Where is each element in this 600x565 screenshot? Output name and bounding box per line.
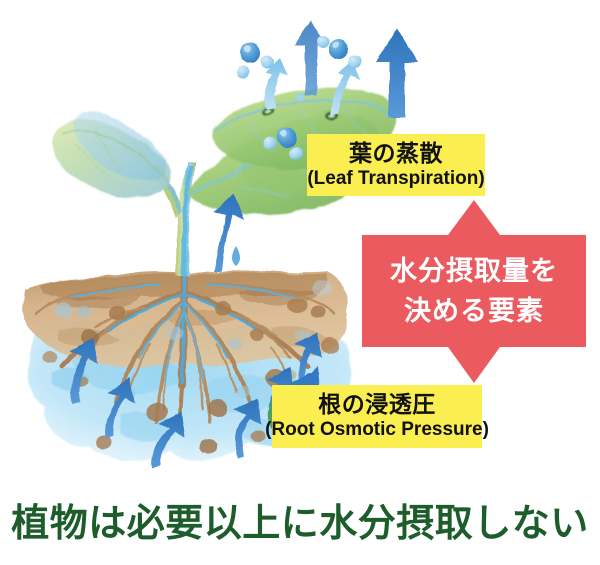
water-molecule	[237, 43, 274, 79]
bottom-caption: 植物は必要以上に水分摂取しない	[0, 492, 600, 547]
double-arrow-shape	[362, 198, 586, 385]
label-leaf-english: (Leaf Transpiration)	[307, 168, 484, 189]
label-root-english: (Root Osmotic Pressure)	[265, 419, 489, 440]
label-leaf-japanese: 葉の蒸散	[349, 141, 443, 167]
label-root-osmotic-pressure: 根の浸透圧 (Root Osmotic Pressure)	[272, 385, 482, 448]
leaf-left	[53, 112, 170, 198]
label-root-japanese: 根の浸透圧	[318, 392, 436, 418]
water-molecule	[317, 36, 362, 69]
label-leaf-transpiration: 葉の蒸散 (Leaf Transpiration)	[307, 134, 485, 196]
red-arrow-banner: 水分摂取量を 決める要素	[362, 198, 586, 385]
water-droplet	[232, 246, 240, 266]
infographic-canvas: 葉の蒸散 (Leaf Transpiration) 根の浸透圧 (Root Os…	[0, 0, 600, 565]
